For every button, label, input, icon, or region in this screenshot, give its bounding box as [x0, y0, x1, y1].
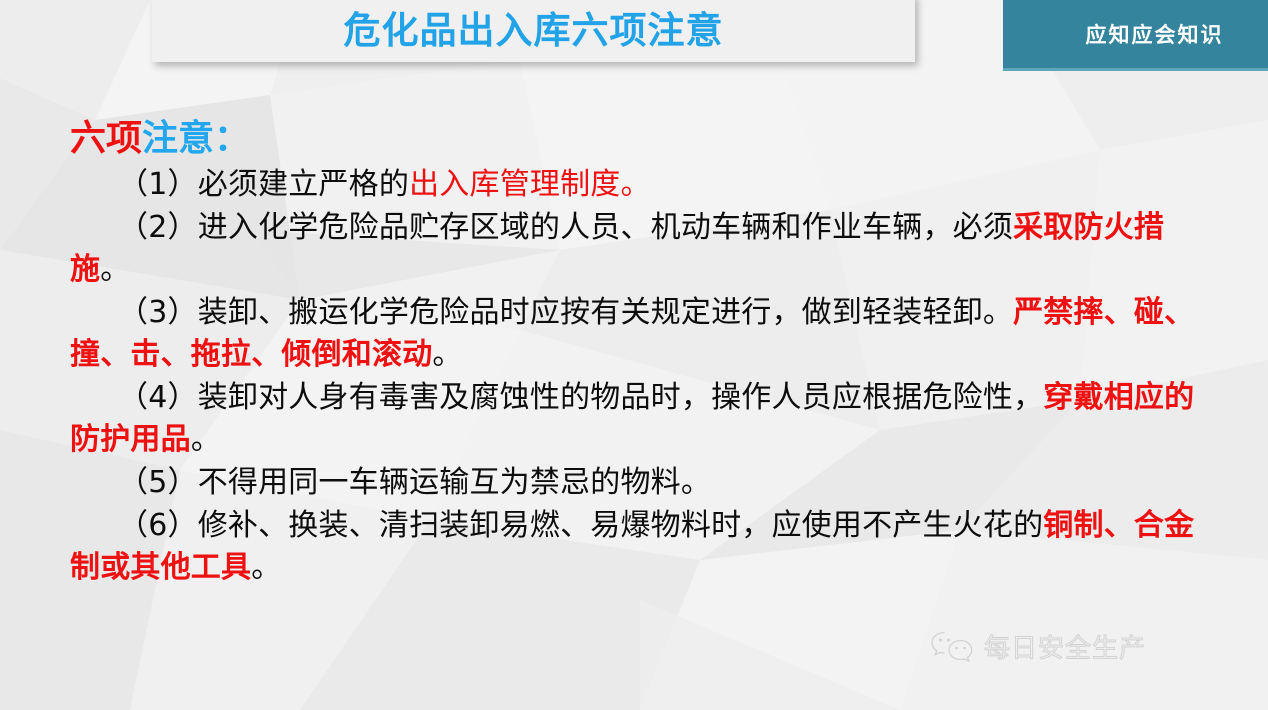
- list-item: （1）必须建立严格的出入库管理制度。: [70, 164, 1208, 206]
- item-text-black: 装卸、搬运化学危险品时应按有关规定进行，做到轻装轻卸。: [198, 295, 1013, 330]
- item-text-black-tail: 。: [432, 337, 462, 372]
- list-item: （4）装卸对人身有毒害及腐蚀性的物品时，操作人员应根据危险性，穿戴相应的防护用品…: [70, 377, 1208, 461]
- slide-title-panel: 危化品出入库六项注意: [152, 0, 915, 62]
- section-heading-blue: 注意：: [142, 118, 250, 159]
- item-text-black-tail: 。: [191, 422, 221, 457]
- item-number: （1）: [118, 167, 198, 202]
- item-text-highlight: 出入库管理制度。: [409, 167, 651, 202]
- item-text-black: 不得用同一车辆运输互为禁忌的物料。: [198, 465, 711, 500]
- watermark-label: 每日安全生产: [984, 628, 1146, 665]
- item-text-black-tail: 。: [100, 252, 130, 287]
- corner-badge-label: 应知应会知识: [1048, 19, 1224, 49]
- item-number: （6）: [118, 508, 198, 543]
- section-heading-red: 六项: [70, 118, 142, 159]
- list-item: （6）修补、换装、清扫装卸易燃、易爆物料时，应使用不产生火花的铜制、合金制或其他…: [70, 505, 1208, 589]
- item-text-black: 进入化学危险品贮存区域的人员、机动车辆和作业车辆，必须: [198, 210, 1013, 245]
- watermark: 每日安全生产: [930, 628, 1146, 665]
- item-text-black: 装卸对人身有毒害及腐蚀性的物品时，操作人员应根据危险性，: [198, 380, 1044, 415]
- list-item: （3）装卸、搬运化学危险品时应按有关规定进行，做到轻装轻卸。严禁摔、碰、撞、击、…: [70, 292, 1208, 376]
- wechat-icon: [930, 630, 976, 664]
- item-number: （5）: [118, 465, 198, 500]
- item-text-black: 必须建立严格的: [198, 167, 409, 202]
- page-title: 危化品出入库六项注意: [344, 8, 724, 49]
- list-item: （2）进入化学危险品贮存区域的人员、机动车辆和作业车辆，必须采取防火措施。: [70, 207, 1208, 291]
- list-item: （5）不得用同一车辆运输互为禁忌的物料。: [70, 462, 1208, 504]
- item-number: （4）: [118, 380, 198, 415]
- item-text-black: 修补、换装、清扫装卸易燃、易爆物料时，应使用不产生火花的: [198, 508, 1044, 543]
- item-number: （3）: [118, 295, 198, 330]
- notice-item-list: （1）必须建立严格的出入库管理制度。 （2）进入化学危险品贮存区域的人员、机动车…: [0, 164, 1268, 589]
- item-text-black-tail: 。: [251, 550, 281, 585]
- item-number: （2）: [118, 210, 198, 245]
- corner-badge: 应知应会知识: [1003, 0, 1268, 71]
- section-heading: 六项注意：: [70, 118, 1268, 160]
- slide-canvas: 危化品出入库六项注意 应知应会知识 六项注意： （1）必须建立严格的出入库管理制…: [0, 0, 1268, 710]
- slide-body: 六项注意： （1）必须建立严格的出入库管理制度。 （2）进入化学危险品贮存区域的…: [0, 118, 1268, 590]
